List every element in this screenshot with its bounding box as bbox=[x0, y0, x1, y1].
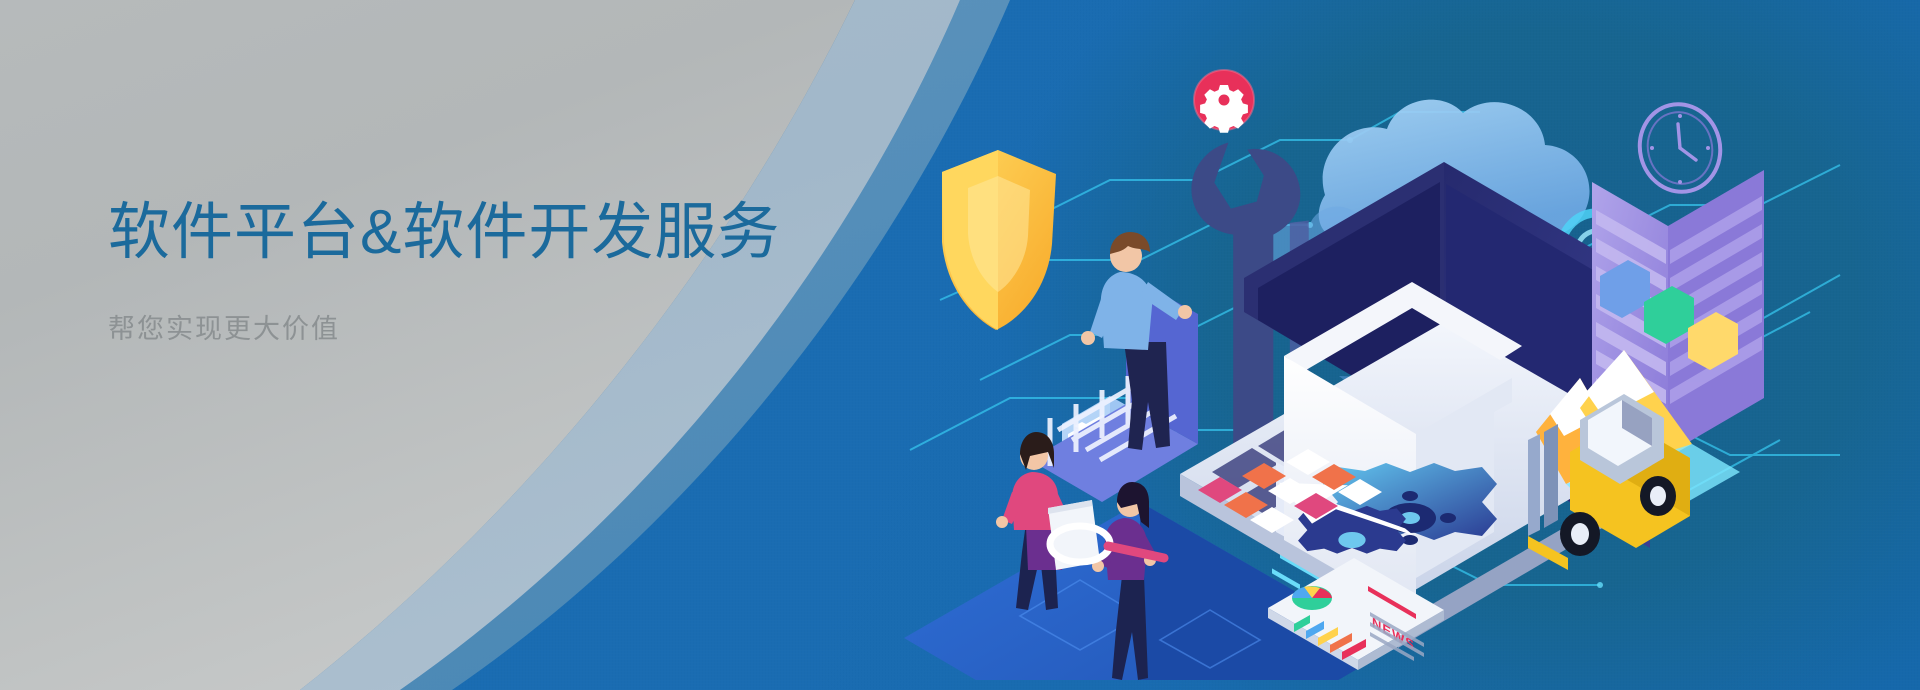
hero-banner: 软件平台&软件开发服务 帮您实现更大价值 bbox=[0, 0, 1920, 690]
gear-badge-icon bbox=[1194, 70, 1254, 133]
page-subtitle: 帮您实现更大价值 bbox=[108, 307, 928, 346]
hero-copy-block: 软件平台&软件开发服务 帮您实现更大价值 bbox=[108, 196, 928, 346]
page-title: 软件平台&软件开发服务 bbox=[108, 196, 928, 269]
hero-illustration: NEWS bbox=[880, 20, 1920, 680]
pie-chart-icon bbox=[1292, 586, 1332, 610]
security-shield-icon bbox=[942, 150, 1056, 330]
clock-icon bbox=[1631, 96, 1730, 201]
